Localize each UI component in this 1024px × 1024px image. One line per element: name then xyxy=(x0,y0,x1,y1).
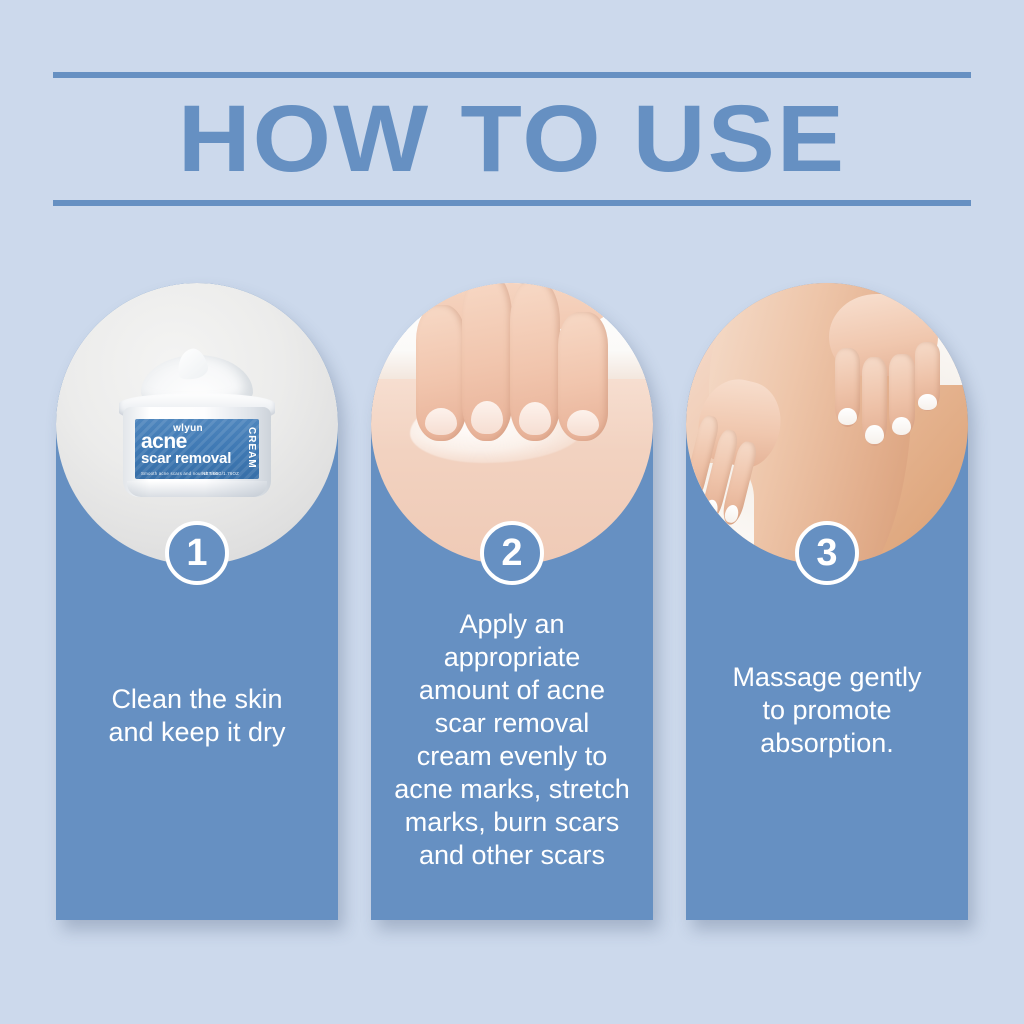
finger-1 xyxy=(416,305,466,441)
jar-product-type: CREAM xyxy=(246,427,257,469)
step-number-badge-1: 1 xyxy=(165,521,229,585)
jar-product-name-line1: acne xyxy=(141,431,187,452)
fingernail-r3 xyxy=(892,417,911,435)
fingernail-l2 xyxy=(702,499,721,523)
steps-container: wlyun acne scar removal CREAM Smooth acn… xyxy=(0,283,1024,943)
fingernail-r1 xyxy=(838,408,857,425)
jar-label: wlyun acne scar removal CREAM Smooth acn… xyxy=(135,419,259,479)
finger-2 xyxy=(462,283,512,441)
page-header: HOW TO USE xyxy=(53,72,971,206)
fingernail-1 xyxy=(425,408,457,435)
finger-4 xyxy=(558,312,608,441)
step-card-2: 2 Apply an appropriate amount of acne sc… xyxy=(371,283,653,920)
fingernail-r4 xyxy=(918,394,937,409)
step-caption-3: Massage gently to promote absorption. xyxy=(686,661,968,760)
finger-3 xyxy=(510,283,560,441)
jar-body: wlyun acne scar removal CREAM Smooth acn… xyxy=(123,407,271,497)
fingernail-4 xyxy=(567,410,599,436)
finger-r2 xyxy=(862,357,888,445)
finger-r3 xyxy=(889,354,915,436)
title-rule-top xyxy=(53,72,971,78)
step-number-badge-3: 3 xyxy=(795,521,859,585)
jar-product-name-line2: scar removal xyxy=(141,451,231,467)
applying-hand xyxy=(416,283,625,441)
massaging-hand-right xyxy=(816,294,951,452)
step-caption-2: Apply an appropriate amount of acne scar… xyxy=(371,608,653,872)
fingernail-l3 xyxy=(723,503,741,525)
fingernail-l1 xyxy=(686,481,702,504)
step-card-1: wlyun acne scar removal CREAM Smooth acn… xyxy=(56,283,338,920)
finger-r1 xyxy=(835,348,861,427)
fingernail-r2 xyxy=(865,425,884,444)
step-card-3: 3 Massage gently to promote absorption. xyxy=(686,283,968,920)
fingernail-3 xyxy=(519,402,551,434)
title-rule-bottom xyxy=(53,200,971,206)
page-title: HOW TO USE xyxy=(25,80,998,198)
jar-net-weight: NET 50G/1.76OZ xyxy=(202,471,239,476)
cream-jar: wlyun acne scar removal CREAM Smooth acn… xyxy=(113,355,281,505)
finger-r4 xyxy=(915,342,941,411)
fingernail-2 xyxy=(471,401,503,435)
step-number-badge-2: 2 xyxy=(480,521,544,585)
step-caption-1: Clean the skin and keep it dry xyxy=(56,683,338,749)
